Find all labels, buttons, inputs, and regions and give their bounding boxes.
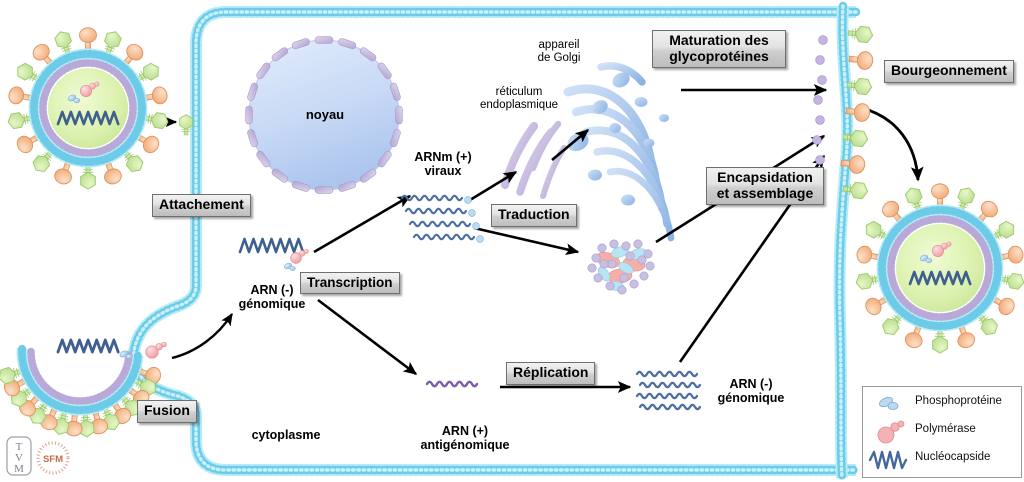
label-noyau: noyau bbox=[290, 108, 360, 123]
label-arnm-viraux: ARNm (+)viraux bbox=[404, 150, 482, 179]
label-arn-positif-antigenomique-text: ARN (+)antigénomique bbox=[421, 424, 510, 452]
legend-row-phosphoproteine: Phosphoprotéine bbox=[863, 389, 1021, 419]
label-arnm-viraux-text: ARNm (+)viraux bbox=[414, 150, 471, 178]
label-fusion-text: Fusion bbox=[144, 402, 190, 418]
label-arn-negatif-genomique-text: ARN (-)génomique bbox=[239, 283, 306, 311]
label-encapsidation-assemblage[interactable]: Encapsidation et assemblage bbox=[706, 167, 824, 205]
label-transcription[interactable]: Transcription bbox=[300, 272, 400, 294]
diagram-canvas: Attachement Transcription Fusion Traduct… bbox=[0, 0, 1024, 482]
label-replication-text: Réplication bbox=[513, 364, 588, 380]
label-bourgeonnement-text: Bourgeonnement bbox=[891, 62, 1007, 78]
label-cytoplasme: cytoplasme bbox=[240, 428, 332, 442]
label-transcription-text: Transcription bbox=[307, 275, 393, 290]
logo-tvm[interactable]: T V M bbox=[6, 436, 32, 481]
label-replication[interactable]: Réplication bbox=[506, 362, 595, 385]
label-cytoplasme-text: cytoplasme bbox=[252, 428, 321, 442]
label-arn-positif-antigenomique: ARN (+)antigénomique bbox=[412, 424, 518, 453]
label-traduction-text: Traduction bbox=[498, 206, 570, 222]
legend-row-polymerase: Polymérase bbox=[863, 417, 1021, 447]
label-fusion[interactable]: Fusion bbox=[137, 400, 197, 423]
label-noyau-text: noyau bbox=[306, 107, 344, 122]
svg-text:M: M bbox=[14, 463, 24, 475]
legend: Phosphoprotéine Polymérase Nucléocapside bbox=[862, 386, 1022, 478]
label-arn-negatif-genomique-2: ARN (-)génomique bbox=[708, 377, 794, 406]
label-maturation-glycoproteines[interactable]: Maturation des glycoprotéines bbox=[652, 30, 786, 68]
label-encapsidation-text: Encapsidation et assemblage bbox=[717, 169, 814, 201]
label-bourgeonnement[interactable]: Bourgeonnement bbox=[884, 60, 1014, 83]
label-attachement[interactable]: Attachement bbox=[152, 194, 251, 217]
svg-text:SFM: SFM bbox=[43, 454, 63, 465]
legend-label-nucleocapside: Nucléocapside bbox=[915, 451, 990, 463]
golgi-apparatus bbox=[564, 66, 671, 238]
polymerase-icon bbox=[867, 417, 913, 447]
label-traduction[interactable]: Traduction bbox=[491, 204, 577, 227]
label-arn-negatif-genomique-2-text: ARN (-)génomique bbox=[718, 377, 785, 405]
legend-label-phosphoproteine: Phosphoprotéine bbox=[915, 395, 1002, 407]
legend-row-nucleocapside: Nucléocapside bbox=[863, 445, 1021, 475]
endoplasmic-reticulum bbox=[505, 124, 564, 196]
virus-particle-budded bbox=[855, 184, 1024, 353]
legend-label-polymerase: Polymérase bbox=[915, 423, 976, 435]
label-appareil-de-golgi: appareilde Golgi bbox=[524, 39, 594, 65]
virus-particle-fusion bbox=[0, 340, 166, 437]
phosphoprotein-icon bbox=[867, 389, 913, 419]
protein-cluster bbox=[588, 240, 654, 294]
nucleocapsid-icon bbox=[867, 445, 913, 475]
label-reticulum-endoplasmique: réticulumendoplasmique bbox=[474, 86, 564, 112]
label-reticulum-endoplasmique-text: réticulumendoplasmique bbox=[480, 86, 558, 111]
logo-sfm[interactable]: SFM bbox=[35, 440, 71, 481]
label-appareil-de-golgi-text: appareilde Golgi bbox=[538, 39, 581, 64]
label-attachement-text: Attachement bbox=[159, 196, 244, 212]
virus-particle-attachment bbox=[7, 28, 169, 189]
label-maturation-text: Maturation des glycoprotéines bbox=[669, 32, 769, 64]
